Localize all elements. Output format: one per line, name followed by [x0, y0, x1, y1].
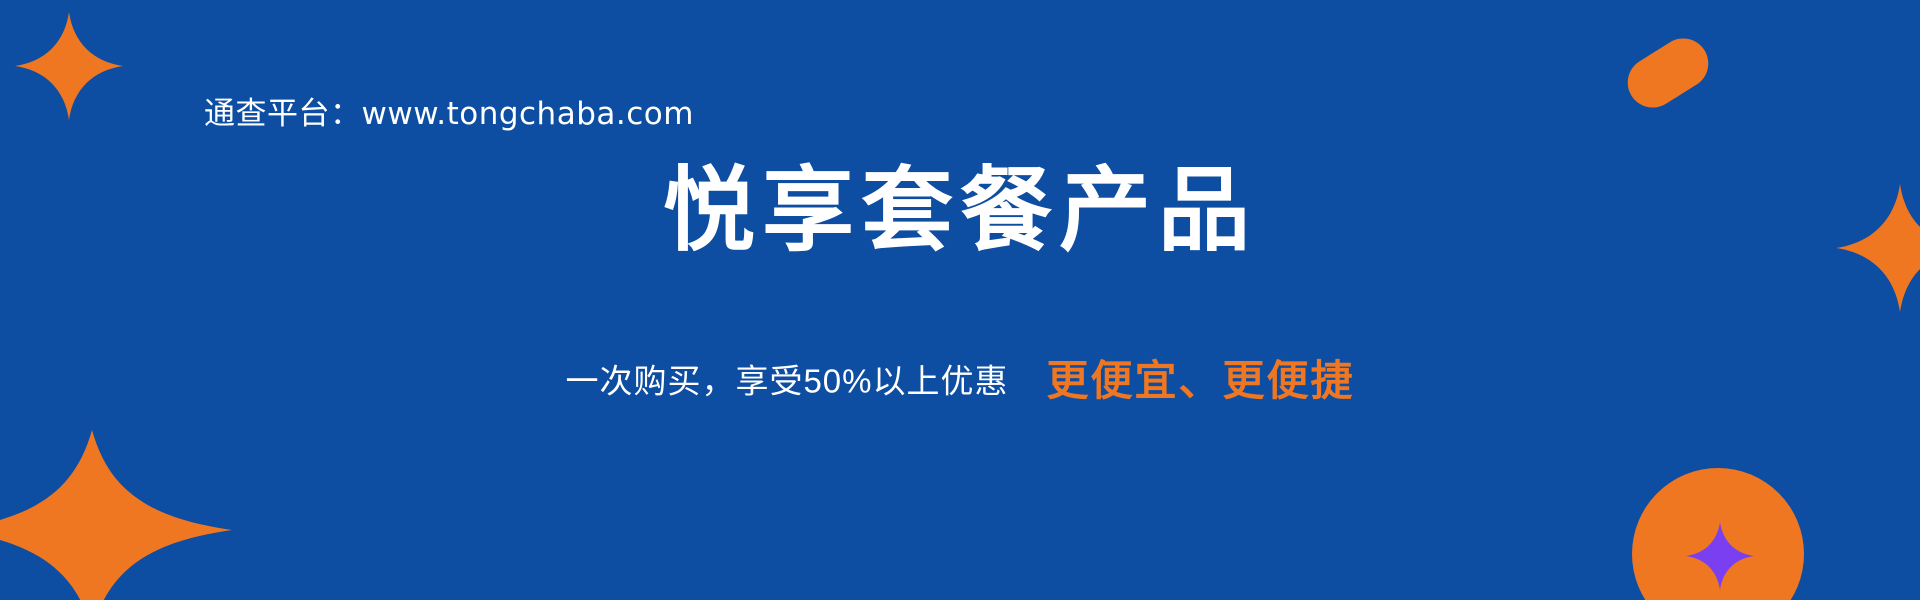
platform-line: 通查平台：www.tongchaba.com	[204, 88, 694, 133]
capsule-top-right-icon	[1618, 29, 1717, 117]
platform-label: 通查平台：	[204, 96, 362, 131]
sparkle-purple-icon	[1686, 518, 1754, 594]
circle-bottom-right-icon	[1632, 468, 1804, 600]
page-title: 悦享套餐产品	[0, 160, 1920, 263]
subtitle-row: 一次购买，享受50%以上优惠更便宜、更便捷	[0, 360, 1920, 402]
platform-url[interactable]: www.tongchaba.com	[362, 96, 694, 132]
star-bottom-left-icon	[0, 430, 232, 600]
sparkle-top-left-icon	[14, 12, 124, 120]
subtitle-highlight-text: 更便宜、更便捷	[1047, 357, 1355, 404]
promo-banner: 通查平台：www.tongchaba.com 悦享套餐产品 一次购买，享受50%…	[0, 0, 1920, 600]
subtitle-discount-text: 一次购买，享受50%以上优惠	[565, 363, 1008, 400]
